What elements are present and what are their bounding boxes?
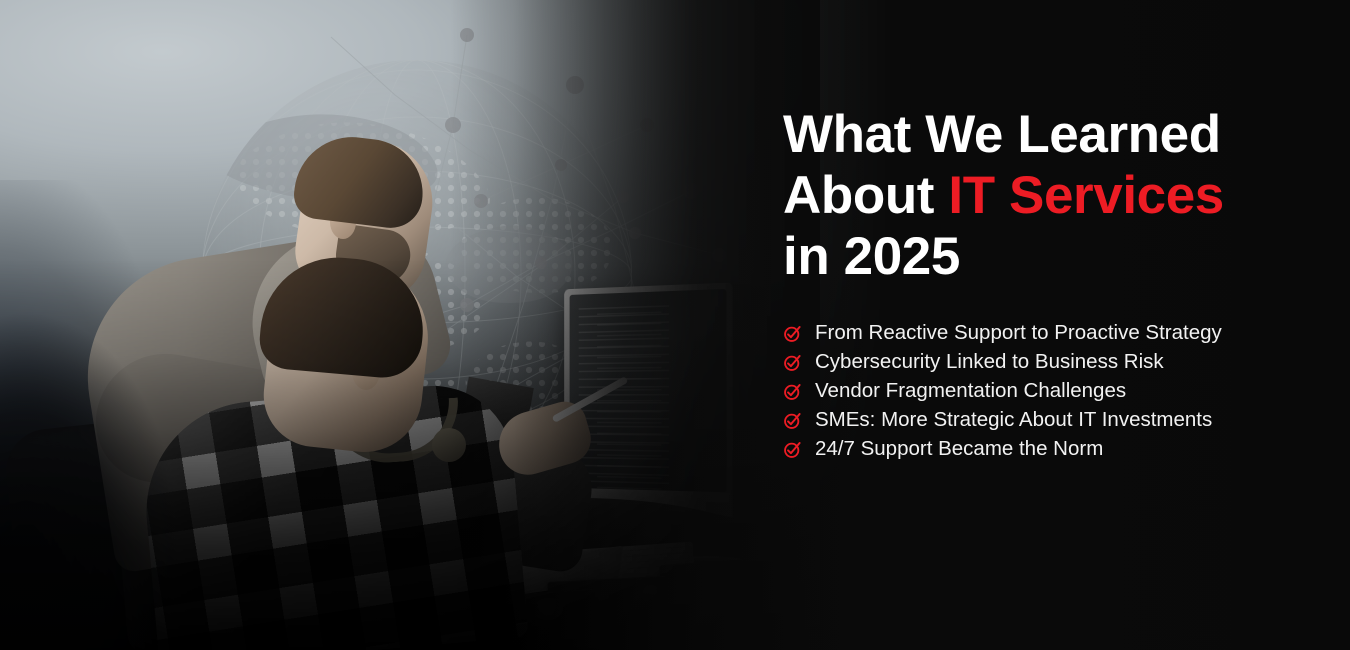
list-item-label: From Reactive Support to Proactive Strat… (815, 321, 1222, 345)
check-circle-icon (783, 440, 802, 459)
it-services-banner: What We Learned About IT Services in 202… (0, 0, 1350, 650)
list-item-label: 24/7 Support Became the Norm (815, 437, 1103, 461)
list-item-label: SMEs: More Strategic About IT Investment… (815, 408, 1212, 432)
list-item: Vendor Fragmentation Challenges (783, 376, 1303, 405)
check-circle-icon (783, 382, 802, 401)
check-circle-icon (783, 353, 802, 372)
list-item-label: Cybersecurity Linked to Business Risk (815, 350, 1164, 374)
key-points-list: From Reactive Support to Proactive Strat… (783, 318, 1303, 463)
list-item: From Reactive Support to Proactive Strat… (783, 318, 1303, 347)
list-item: Cybersecurity Linked to Business Risk (783, 347, 1303, 376)
headline-line-3: in 2025 (783, 227, 960, 286)
headline-line-2-prefix: About (783, 166, 948, 225)
check-circle-icon (783, 324, 802, 343)
banner-content: What We Learned About IT Services in 202… (783, 104, 1303, 287)
list-item-label: Vendor Fragmentation Challenges (815, 379, 1126, 403)
check-circle-icon (783, 411, 802, 430)
page-title: What We Learned About IT Services in 202… (783, 104, 1303, 287)
list-item: SMEs: More Strategic About IT Investment… (783, 405, 1303, 434)
headline-line-1: What We Learned (783, 105, 1221, 164)
list-item: 24/7 Support Became the Norm (783, 434, 1303, 463)
headline-accent-it-services: IT Services (948, 166, 1224, 225)
